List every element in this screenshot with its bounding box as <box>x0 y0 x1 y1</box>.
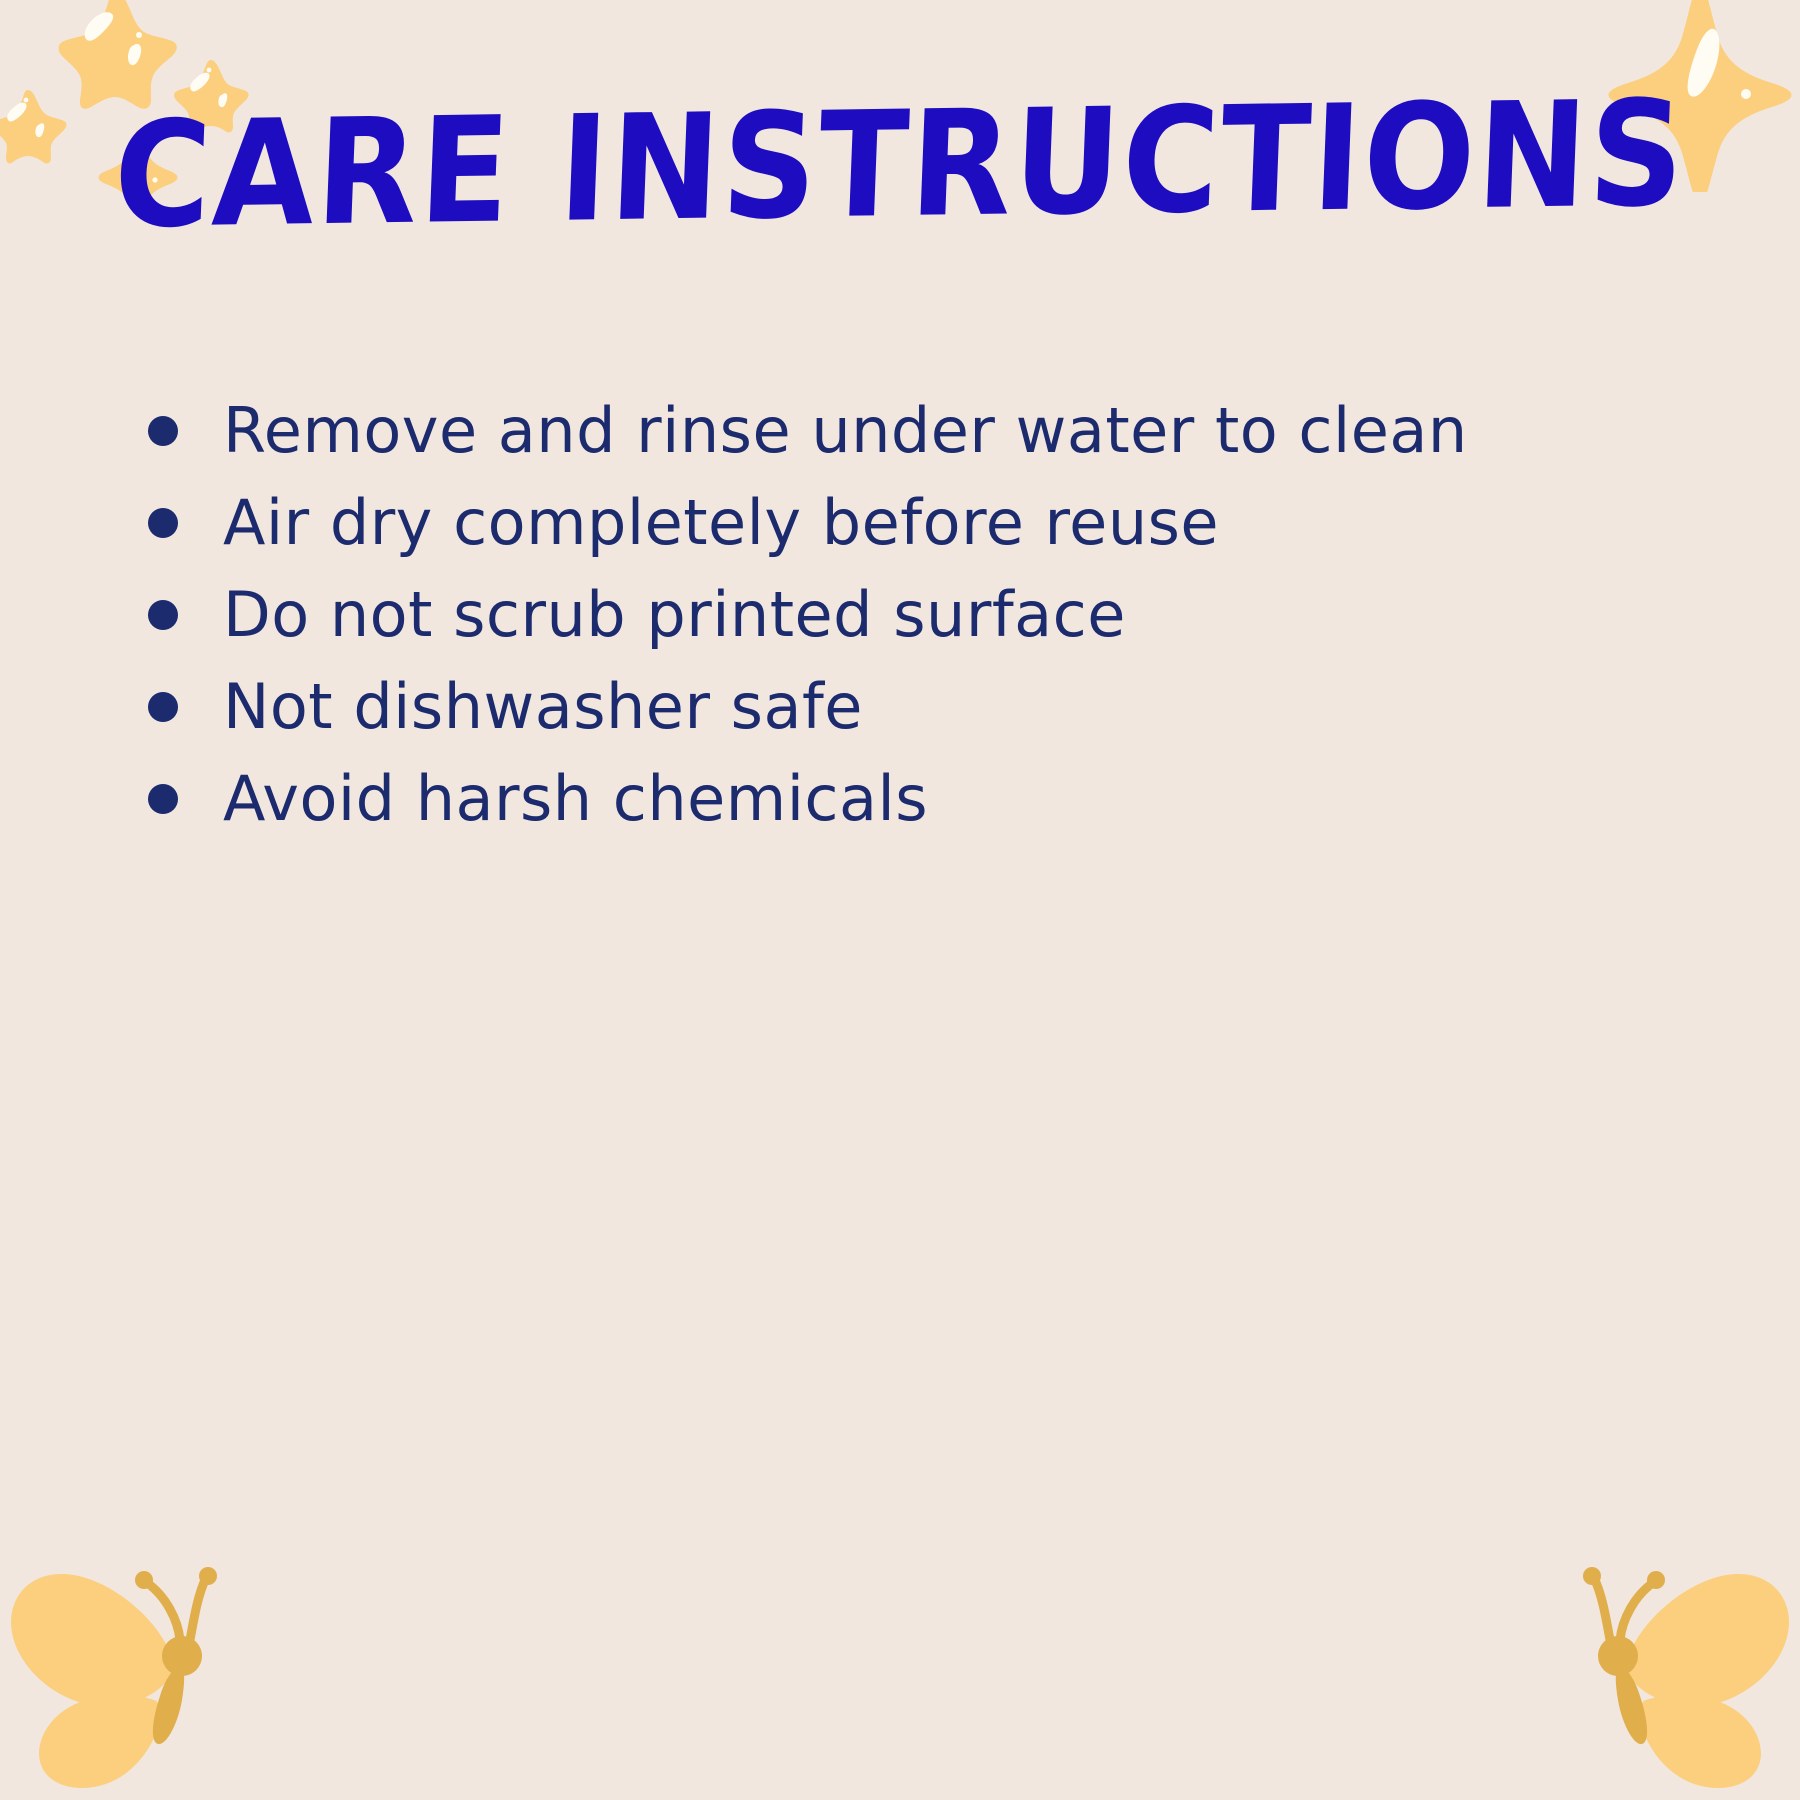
instruction-text: Air dry completely before reuse <box>223 484 1648 562</box>
list-item: Avoid harsh chemicals <box>148 760 1648 852</box>
butterfly-bottom-right-icon <box>1556 1554 1800 1800</box>
instruction-text: Avoid harsh chemicals <box>223 760 1648 838</box>
instruction-text: Not dishwasher safe <box>223 668 1648 746</box>
instructions-list: Remove and rinse under water to clean Ai… <box>148 392 1648 852</box>
instruction-text: Remove and rinse under water to clean <box>223 392 1648 470</box>
instruction-text: Do not scrub printed surface <box>223 576 1648 654</box>
list-item: Not dishwasher safe <box>148 668 1648 760</box>
care-instructions-card: CARE INSTRUCTIONS Remove and rinse under… <box>0 0 1800 1800</box>
bullet-dot-icon <box>148 692 178 722</box>
bullet-dot-icon <box>148 784 178 814</box>
bullet-dot-icon <box>148 600 178 630</box>
butterfly-bottom-left-icon <box>0 1554 244 1800</box>
bullet-dot-icon <box>148 416 178 446</box>
bullet-dot-icon <box>148 508 178 538</box>
page-title: CARE INSTRUCTIONS <box>0 79 1800 250</box>
list-item: Air dry completely before reuse <box>148 484 1648 576</box>
list-item: Do not scrub printed surface <box>148 576 1648 668</box>
list-item: Remove and rinse under water to clean <box>148 392 1648 484</box>
